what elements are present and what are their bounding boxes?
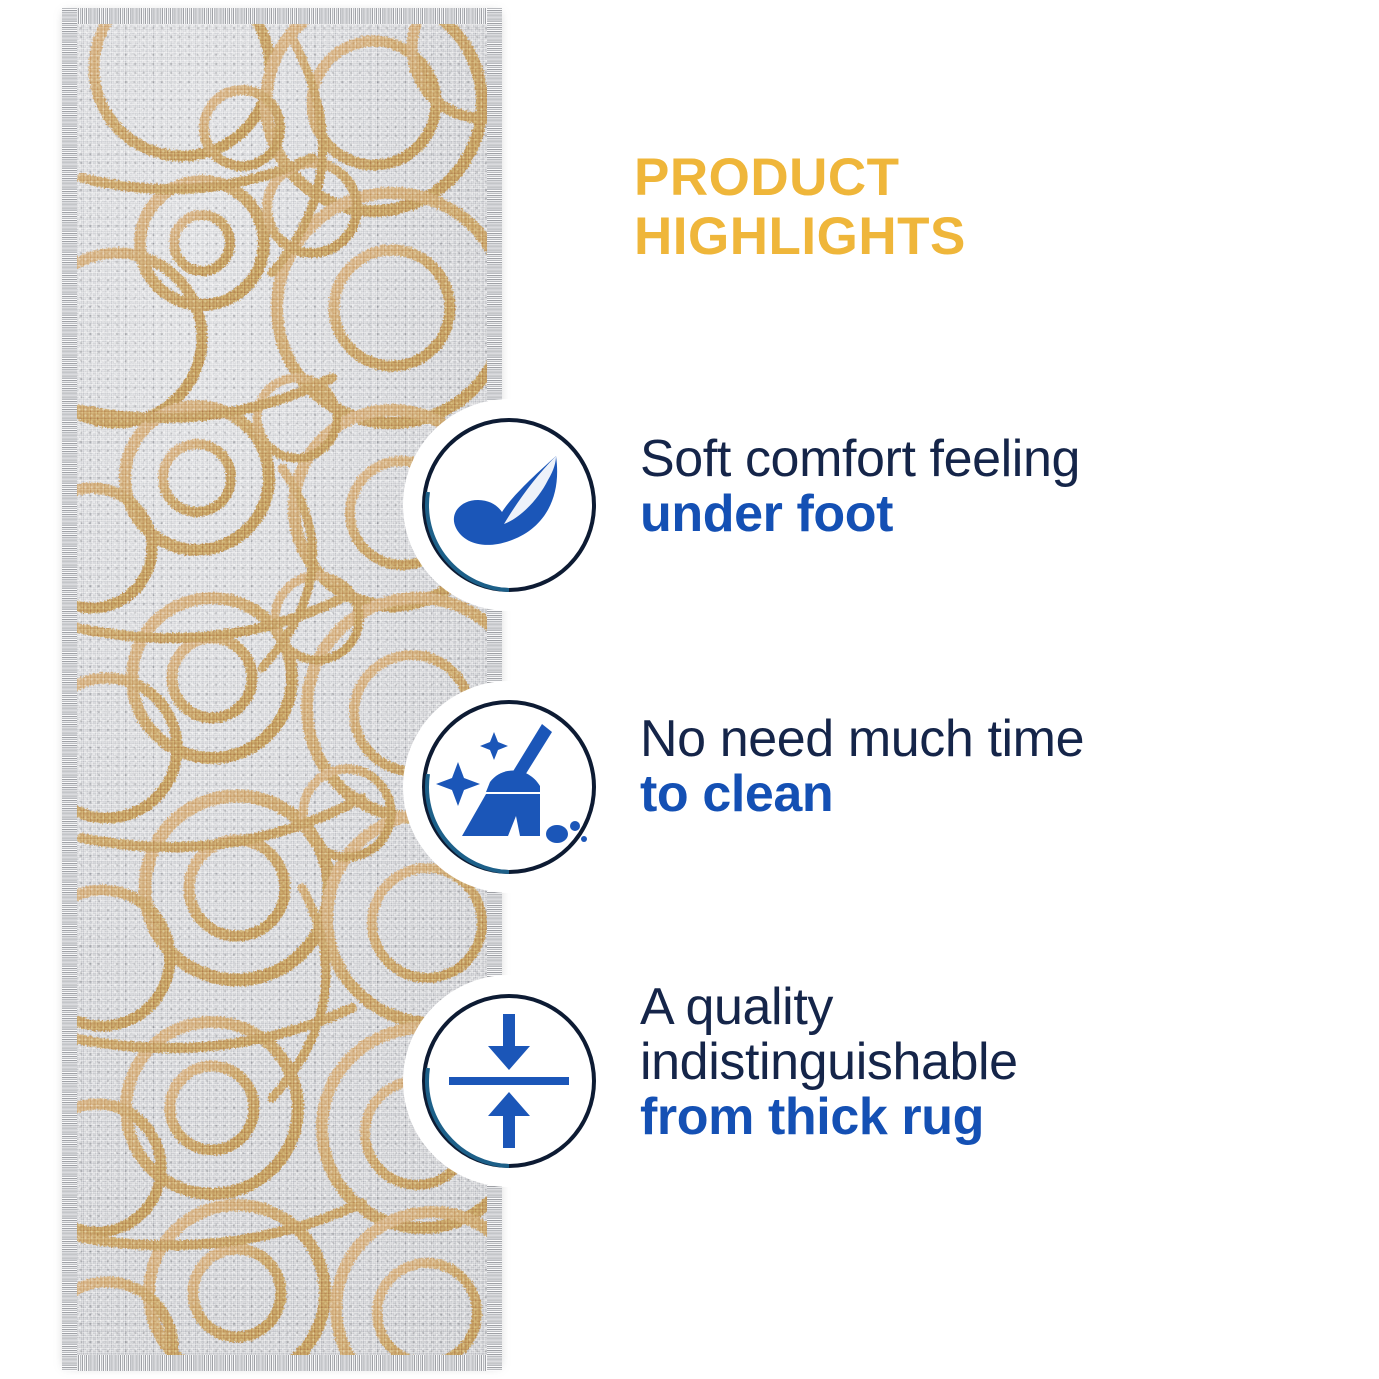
thickness-arrows-icon [416,988,602,1174]
feature-3-text: A quality indistinguishable from thick r… [640,978,1018,1145]
feature-1-line-1: Soft comfort feeling [640,432,1080,487]
feature-3-line-2: from thick rug [640,1090,1018,1145]
rug-edge-left [62,8,77,1371]
feature-item-2: No need much time to clean [624,690,1364,822]
broom-badge [416,694,602,880]
feature-3-line-1: A quality [640,980,1018,1035]
rug-edge-top [62,8,502,24]
feather-icon [416,412,602,598]
broom-sparkle-icon [416,694,602,880]
feature-2-line-1: No need much time [640,712,1084,767]
feature-item-3: A quality indistinguishable from thick r… [624,978,1364,1145]
infographic-canvas: PRODUCT HIGHLIGHTS Soft comfort feeling … [0,0,1379,1379]
feature-1-line-2: under foot [640,487,1080,542]
feature-3-line-1b: indistinguishable [640,1035,1018,1090]
feather-badge [416,412,602,598]
feature-1-text: Soft comfort feeling under foot [640,410,1080,542]
highlights-column: PRODUCT HIGHLIGHTS Soft comfort feeling … [624,0,1364,1379]
feature-item-1: Soft comfort feeling under foot [624,410,1364,542]
rug-edge-bottom [62,1355,502,1371]
thickness-badge [416,988,602,1174]
headline-line-2: HIGHLIGHTS [634,207,966,266]
feature-2-line-2: to clean [640,767,1084,822]
headline-line-1: PRODUCT [634,148,900,207]
feature-2-text: No need much time to clean [640,690,1084,822]
page-title: PRODUCT HIGHLIGHTS [634,148,1104,267]
